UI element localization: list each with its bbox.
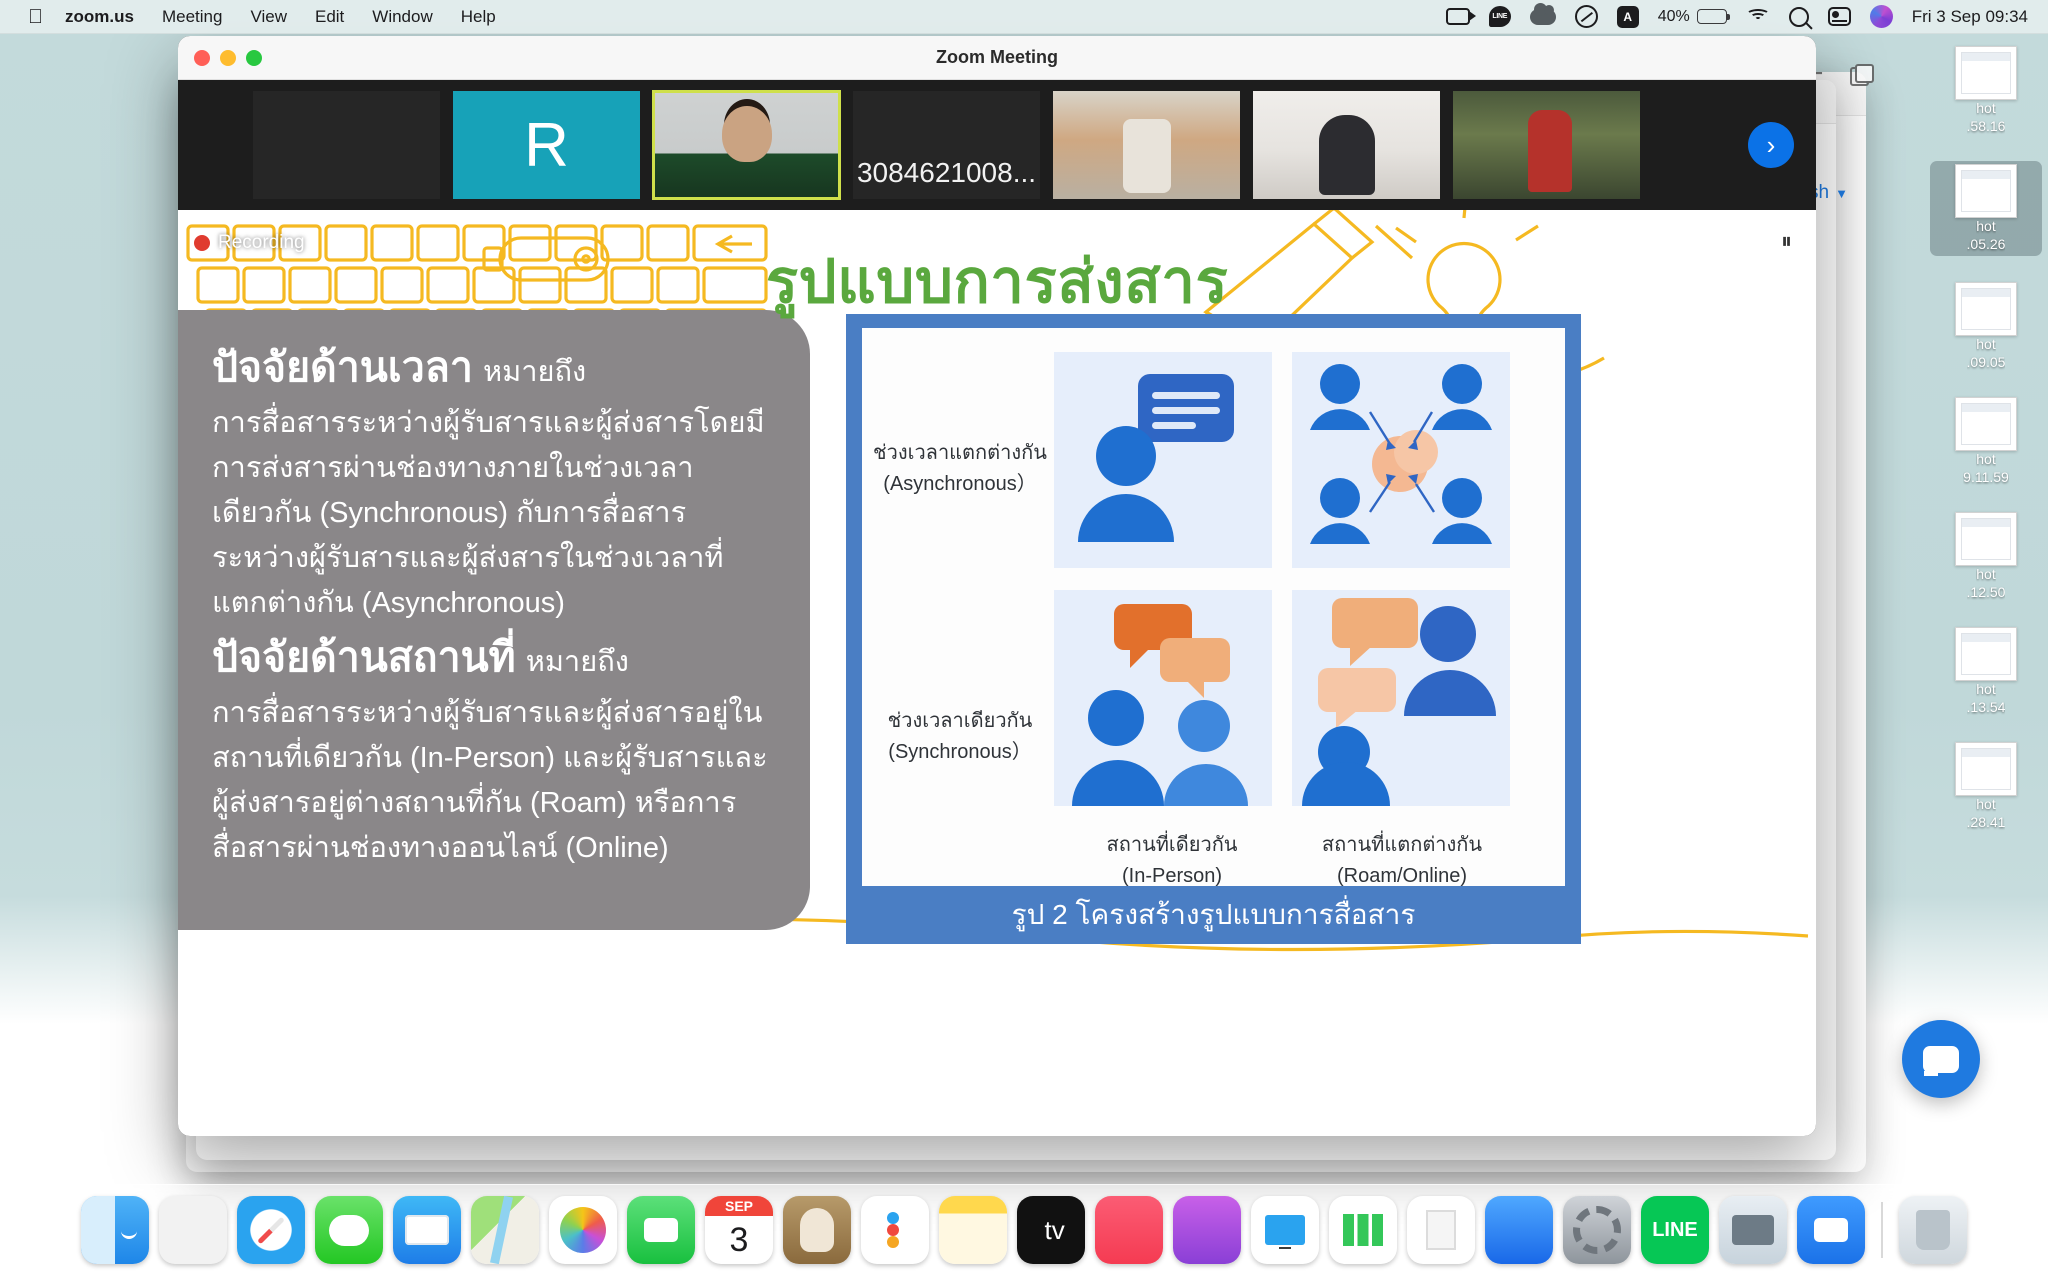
- desktop-file-item[interactable]: hot.58.16: [1930, 46, 2042, 135]
- file-name-line2: .28.41: [1967, 814, 2006, 832]
- battery-shell: [1697, 9, 1727, 24]
- desktop-file-item[interactable]: hot.13.54: [1930, 627, 2042, 716]
- slide-left-panel: ปัจจัยด้านเวลาหมายถึง การสื่อสารระหว่างผ…: [178, 310, 810, 930]
- heading-2-sub: หมายถึง: [526, 646, 629, 678]
- dock-item-maps[interactable]: [471, 1196, 539, 1264]
- input-source-icon[interactable]: A: [1617, 6, 1639, 28]
- file-name-line2: 9.11.59: [1963, 469, 2009, 487]
- menubar-clock[interactable]: Fri 3 Sep 09:34: [1912, 7, 2028, 27]
- dock-item-safari[interactable]: [237, 1196, 305, 1264]
- diagram-matrix: ช่วงเวลาแตกต่างกัน (Asynchronous） ช่วงเว…: [862, 328, 1565, 886]
- participant-tile-phone[interactable]: 3084621008...: [853, 91, 1040, 199]
- menu-item-edit[interactable]: Edit: [315, 7, 344, 27]
- macos-menubar[interactable]:  zoom.us Meeting View Edit Window Help …: [0, 0, 2048, 34]
- dock-item-mail[interactable]: [393, 1196, 461, 1264]
- left-panel-body-2: การสื่อสารระหว่างผู้รับสารและผู้ส่งสารอย…: [212, 691, 776, 871]
- apple-icon[interactable]: : [28, 7, 43, 27]
- col-label-right-thai: สถานที่แตกต่างกัน: [1292, 830, 1512, 861]
- desktop-file-item[interactable]: hot.28.41: [1930, 742, 2042, 831]
- dock-item-music[interactable]: [1095, 1196, 1163, 1264]
- file-name-line1: hot: [1976, 681, 1995, 699]
- wifi-icon[interactable]: [1746, 8, 1770, 25]
- diagram-row-label-asynchronous: ช่วงเวลาแตกต่างกัน (Asynchronous）: [870, 438, 1050, 500]
- menu-item-help[interactable]: Help: [461, 7, 496, 27]
- left-panel-heading-2: ปัจจัยด้านสถานที่หมายถึง: [212, 630, 776, 685]
- file-thumbnail: [1955, 164, 2017, 218]
- desktop-file-item[interactable]: hot.12.50: [1930, 512, 2042, 601]
- cell-22-illustration: [1292, 590, 1510, 806]
- file-name-line1: hot: [1976, 451, 1995, 469]
- calendar-month: SEP: [705, 1196, 773, 1216]
- heading-1-main: ปัจจัยด้านเวลา: [212, 344, 473, 390]
- row-label-bottom-thai: ช่วงเวลาเดียวกัน: [870, 706, 1050, 737]
- dock-item-finder[interactable]: [81, 1196, 149, 1264]
- dock-separator: [1881, 1202, 1883, 1258]
- battery-icon[interactable]: 40%: [1658, 8, 1727, 26]
- file-name-line1: hot: [1976, 566, 1995, 584]
- file-thumbnail: [1955, 742, 2017, 796]
- col-label-right-english: (Roam/Online): [1292, 861, 1512, 892]
- row-label-top-thai: ช่วงเวลาแตกต่างกัน: [870, 438, 1050, 469]
- menu-item-window[interactable]: Window: [372, 7, 432, 27]
- desktop-file-item[interactable]: hot.09.05: [1930, 282, 2042, 371]
- row-label-top-english: (Asynchronous）: [870, 469, 1050, 500]
- onedrive-cloud-icon[interactable]: [1530, 9, 1556, 25]
- dock-item-keynote[interactable]: [1251, 1196, 1319, 1264]
- file-name-line2: .58.16: [1967, 118, 2006, 136]
- participant-tile-video-3[interactable]: [1453, 91, 1640, 199]
- battery-percent-label: 40%: [1658, 8, 1690, 26]
- file-name-line2: .12.50: [1967, 584, 2006, 602]
- menu-item-view[interactable]: View: [250, 7, 287, 27]
- slide-diagram-panel: ช่วงเวลาแตกต่างกัน (Asynchronous） ช่วงเว…: [846, 314, 1581, 944]
- recording-dot-icon: [194, 235, 210, 251]
- dock-item-photos[interactable]: [549, 1196, 617, 1264]
- desktop-file-item[interactable]: hot.05.26: [1930, 161, 2042, 256]
- participant-tile-video-2[interactable]: [1253, 91, 1440, 199]
- dock-item-systempreferences[interactable]: [1563, 1196, 1631, 1264]
- diagram-row-label-synchronous: ช่วงเวลาเดียวกัน (Synchronous）: [870, 706, 1050, 768]
- screen-recording-icon[interactable]: [1446, 8, 1470, 25]
- spotlight-search-icon[interactable]: [1789, 7, 1809, 27]
- filmstrip-next-button[interactable]: ›: [1748, 122, 1794, 168]
- diagram-cell-sync-roam: [1292, 590, 1510, 806]
- slide-title: รูปแบบการส่งสาร: [178, 234, 1816, 329]
- dock-item-zoom[interactable]: [1797, 1196, 1865, 1264]
- dock-item-podcasts[interactable]: [1173, 1196, 1241, 1264]
- participant-phone-name: 3084621008...: [857, 157, 1036, 199]
- dock-item-reminders[interactable]: [861, 1196, 929, 1264]
- dock-item-numbers[interactable]: [1329, 1196, 1397, 1264]
- desktop-file-item[interactable]: hot9.11.59: [1930, 397, 2042, 486]
- file-thumbnail: [1955, 627, 2017, 681]
- macos-dock[interactable]: SEP3 tvLINE: [68, 1184, 1980, 1276]
- participant-filmstrip[interactable]: R 3084621008... ›: [178, 80, 1816, 210]
- chevron-down-icon: ▼: [1835, 186, 1848, 201]
- diagram-caption: รูป 2 โครงสร้างรูปแบบการสื่อสาร: [862, 893, 1565, 937]
- file-thumbnail: [1955, 46, 2017, 100]
- participant-initial: R: [524, 110, 569, 181]
- pause-icon[interactable]: ⏸: [1781, 228, 1794, 254]
- file-name-line1: hot: [1976, 100, 1995, 118]
- dock-item-preview[interactable]: [1719, 1196, 1787, 1264]
- chat-bubble-button[interactable]: [1902, 1020, 1980, 1098]
- diagram-cell-async-inperson: [1054, 352, 1272, 568]
- dock-item-calendar[interactable]: SEP3: [705, 1196, 773, 1264]
- diagram-col-label-inperson: สถานที่เดียวกัน (In-Person): [1062, 830, 1282, 892]
- dock-item-appletv[interactable]: tv: [1017, 1196, 1085, 1264]
- dock-item-messages[interactable]: [315, 1196, 383, 1264]
- diagram-cell-async-roam: [1292, 352, 1510, 568]
- dock-item-appstore[interactable]: [1485, 1196, 1553, 1264]
- tab-overview-icon[interactable]: [1850, 64, 1872, 84]
- creative-cloud-icon[interactable]: [1575, 5, 1598, 28]
- cell-21-illustration: [1054, 590, 1272, 806]
- dock-item-pages[interactable]: [1407, 1196, 1475, 1264]
- desktop-file-column: hot.58.16hot.05.26hot.09.05hot9.11.59hot…: [1930, 46, 2042, 857]
- zoom-window-title: Zoom Meeting: [178, 47, 1816, 68]
- participant-tile-active-speaker[interactable]: [653, 91, 840, 199]
- diagram-col-label-roam-online: สถานที่แตกต่างกัน (Roam/Online): [1292, 830, 1512, 892]
- left-panel-body-1: การสื่อสารระหว่างผู้รับสารและผู้ส่งสารโด…: [212, 401, 776, 626]
- heading-1-sub: หมายถึง: [483, 356, 586, 388]
- file-thumbnail: [1955, 397, 2017, 451]
- dock-item-launchpad[interactable]: [159, 1196, 227, 1264]
- participant-tile-avatar-r[interactable]: R: [453, 91, 640, 199]
- control-center-icon[interactable]: [1828, 7, 1851, 26]
- cell-12-illustration: [1292, 352, 1510, 568]
- cell-11-illustration: [1054, 352, 1272, 568]
- participant-tile-video-1[interactable]: [1053, 91, 1240, 199]
- siri-icon[interactable]: [1870, 5, 1893, 28]
- file-name-line1: hot: [1976, 796, 1995, 814]
- menubar-status-area[interactable]: LINE A 40% Fri 3 Sep 09:34: [1446, 5, 2034, 28]
- left-panel-heading-1: ปัจจัยด้านเวลาหมายถึง: [212, 340, 776, 395]
- file-thumbnail: [1955, 282, 2017, 336]
- file-name-line2: .13.54: [1967, 699, 2006, 717]
- participant-tile-empty[interactable]: [253, 91, 440, 199]
- file-name-line1: hot: [1976, 218, 1995, 236]
- dock-item-facetime[interactable]: [627, 1196, 695, 1264]
- dock-item-notes[interactable]: [939, 1196, 1007, 1264]
- line-icon[interactable]: LINE: [1489, 6, 1511, 27]
- recording-indicator: Recording: [194, 232, 305, 254]
- row-label-bottom-english: (Synchronous）: [870, 737, 1050, 768]
- file-name-line2: .05.26: [1967, 236, 2006, 254]
- dock-item-line[interactable]: LINE: [1641, 1196, 1709, 1264]
- file-name-line1: hot: [1976, 336, 1995, 354]
- col-label-left-english: (In-Person): [1062, 861, 1282, 892]
- calendar-day: 3: [730, 1216, 749, 1264]
- menu-item-zoom-us[interactable]: zoom.us: [65, 7, 134, 27]
- col-label-left-thai: สถานที่เดียวกัน: [1062, 830, 1282, 861]
- zoom-meeting-window[interactable]: Zoom Meeting R 3084621008... ›: [178, 36, 1816, 1136]
- recording-label: Recording: [218, 232, 305, 254]
- dock-item-contacts[interactable]: [783, 1196, 851, 1264]
- zoom-window-titlebar: Zoom Meeting: [178, 36, 1816, 80]
- shared-screen-slide: Recording ⏸ รูปแบบการส่งสาร ปัจจัยด้านเว…: [178, 210, 1816, 1136]
- heading-2-main: ปัจจัยด้านสถานที่: [212, 634, 516, 680]
- dock-item-trash[interactable]: [1899, 1196, 1967, 1264]
- file-thumbnail: [1955, 512, 2017, 566]
- menu-item-meeting[interactable]: Meeting: [162, 7, 222, 27]
- file-name-line2: .09.05: [1967, 354, 2006, 372]
- diagram-cell-sync-inperson: [1054, 590, 1272, 806]
